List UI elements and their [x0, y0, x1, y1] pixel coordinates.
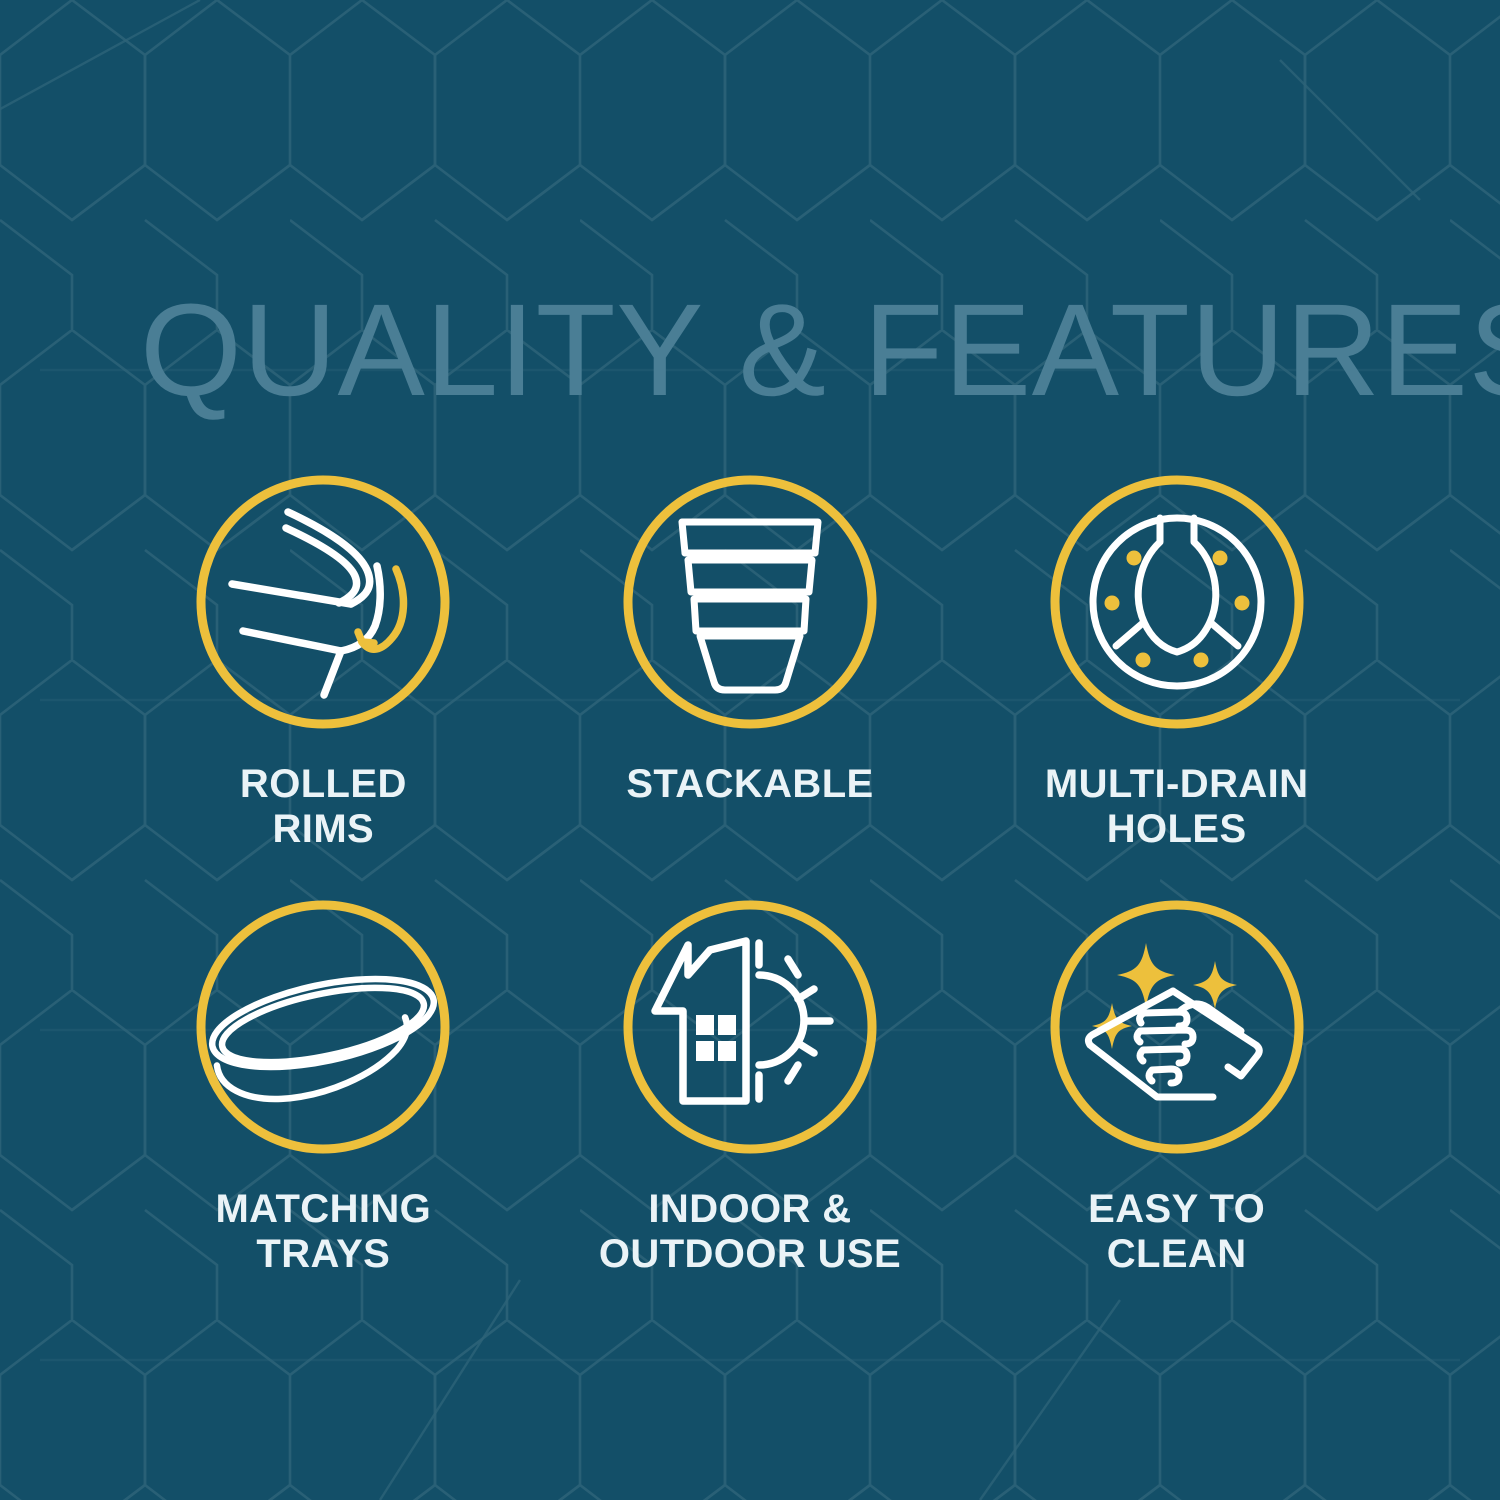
feature-easy-to-clean: EASY TO CLEAN: [963, 895, 1390, 1320]
feature-caption: EASY TO CLEAN: [1088, 1187, 1265, 1277]
drain-holes-icon: [1045, 470, 1309, 734]
house-sun-icon: [618, 895, 882, 1159]
feature-rolled-rims: ROLLED RIMS: [110, 470, 537, 895]
features-grid: ROLLED RIMS: [110, 470, 1390, 1320]
feature-caption: ROLLED RIMS: [240, 762, 407, 852]
rolled-rim-icon: [191, 470, 455, 734]
page-title: QUALITY & FEATURES: [140, 284, 1370, 415]
feature-indoor-outdoor-use: INDOOR & OUTDOOR USE: [537, 895, 964, 1320]
feature-caption: MULTI-DRAIN HOLES: [1045, 762, 1309, 852]
stacked-pots-icon: [618, 470, 882, 734]
hand-wipe-sparkle-icon: [1045, 895, 1309, 1159]
saucer-tray-icon: [191, 895, 455, 1159]
feature-matching-trays: MATCHING TRAYS: [110, 895, 537, 1320]
feature-infographic: QUALITY & FEATURES: [0, 0, 1500, 1500]
feature-caption: INDOOR & OUTDOOR USE: [599, 1187, 901, 1277]
feature-caption: MATCHING TRAYS: [215, 1187, 431, 1277]
feature-caption: STACKABLE: [626, 762, 873, 807]
feature-multi-drain-holes: MULTI-DRAIN HOLES: [963, 470, 1390, 895]
feature-stackable: STACKABLE: [537, 470, 964, 895]
